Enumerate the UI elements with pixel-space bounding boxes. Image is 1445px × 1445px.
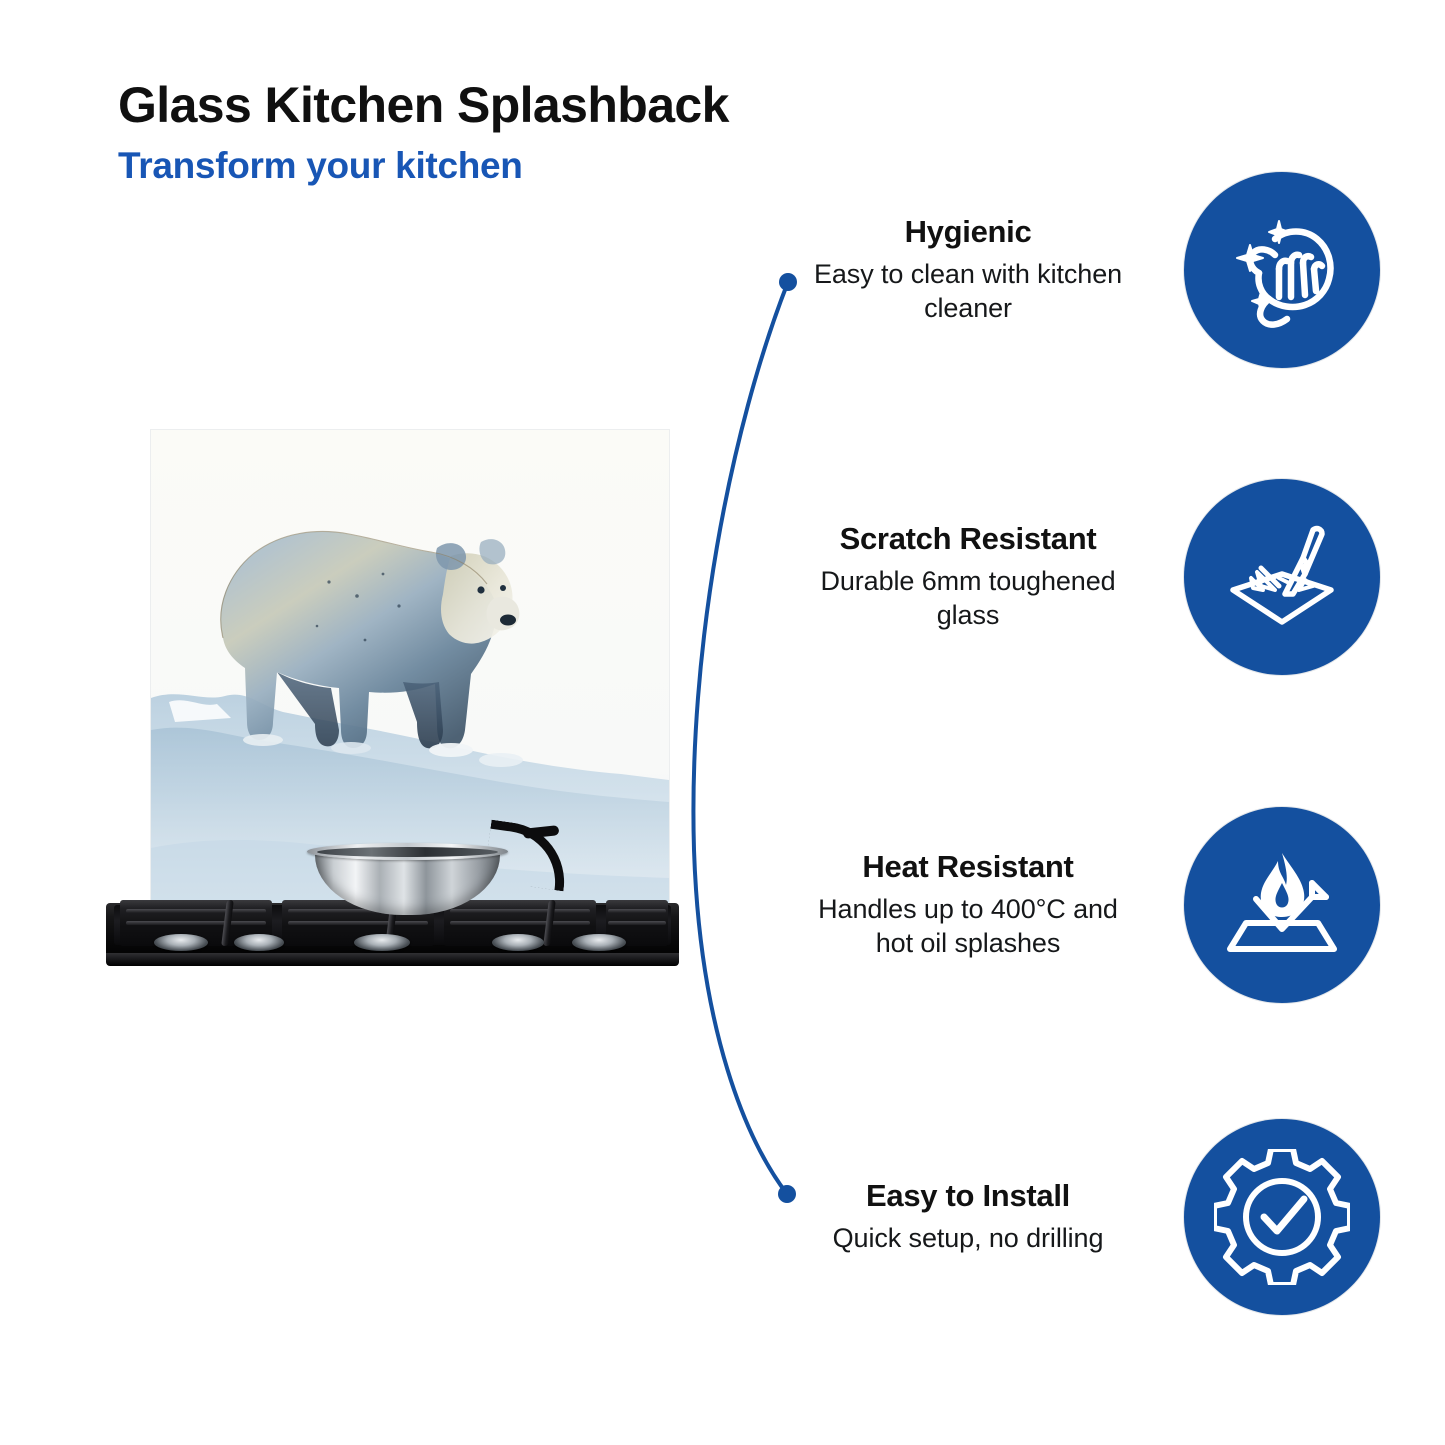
feature-text: Heat Resistant Handles up to 400°C and h… xyxy=(798,850,1138,960)
feature-description: Handles up to 400°C and hot oil splashes xyxy=(798,892,1138,960)
connector-path xyxy=(693,282,788,1194)
feature-description: Durable 6mm toughened glass xyxy=(798,564,1138,632)
hand-wiping-sparkle-icon xyxy=(1184,172,1380,368)
feature-item-heat-resistant: Heat Resistant Handles up to 400°C and h… xyxy=(720,800,1380,1010)
feature-text: Scratch Resistant Durable 6mm toughened … xyxy=(798,522,1138,632)
feature-description: Quick setup, no drilling xyxy=(798,1221,1138,1255)
frying-pan xyxy=(307,825,557,930)
page-title: Glass Kitchen Splashback xyxy=(118,78,938,132)
feature-description: Easy to clean with kitchen cleaner xyxy=(798,257,1138,325)
hob-burner xyxy=(492,934,544,951)
hob-burner xyxy=(572,934,626,951)
hob-burner xyxy=(234,934,284,951)
hob-burner xyxy=(354,934,410,951)
hob-front-lip xyxy=(106,953,679,966)
gear-check-icon xyxy=(1184,1119,1380,1315)
feature-text: Easy to Install Quick setup, no drilling xyxy=(798,1179,1138,1255)
pan-interior xyxy=(317,847,498,857)
feature-title: Scratch Resistant xyxy=(798,522,1138,557)
feature-title: Heat Resistant xyxy=(798,850,1138,885)
infographic-canvas: Glass Kitchen Splashback Transform your … xyxy=(0,0,1445,1445)
connector-curve xyxy=(670,250,890,1230)
feature-item-hygienic: Hygienic Easy to clean with kitchen clea… xyxy=(720,165,1380,375)
hob-burner xyxy=(154,934,208,951)
feature-item-scratch-resistant: Scratch Resistant Durable 6mm toughened … xyxy=(720,472,1380,682)
feature-item-easy-to-install: Easy to Install Quick setup, no drilling xyxy=(720,1112,1380,1322)
feature-title: Hygienic xyxy=(798,215,1138,250)
knife-scratch-surface-icon xyxy=(1184,479,1380,675)
product-visual xyxy=(100,425,685,985)
feature-text: Hygienic Easy to clean with kitchen clea… xyxy=(798,215,1138,325)
feature-title: Easy to Install xyxy=(798,1179,1138,1214)
flame-deflect-surface-icon xyxy=(1184,807,1380,1003)
